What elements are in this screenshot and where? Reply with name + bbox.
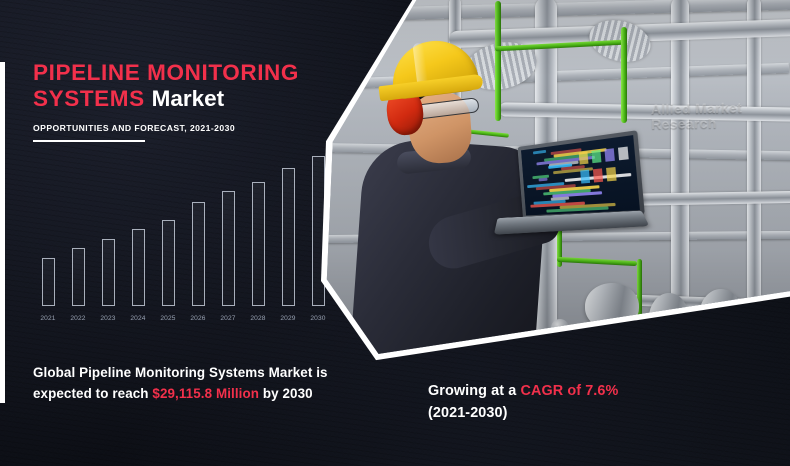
chart-bar-column — [63, 150, 93, 306]
chart-bar-label: 2026 — [183, 308, 213, 330]
chart-bar — [72, 248, 85, 306]
scada-indicator-block — [606, 167, 617, 181]
laptop — [489, 139, 649, 249]
chart-bar — [192, 202, 205, 306]
laptop-keyboard-base — [494, 211, 650, 235]
chart-bar-column — [183, 150, 213, 306]
scada-indicator-block — [578, 151, 588, 165]
scada-indicator-block — [604, 148, 615, 162]
chart-bar — [282, 168, 295, 306]
chart-bar-column — [213, 150, 243, 306]
statement-value-highlight: $29,115.8 Million — [152, 386, 259, 401]
statement-part-2: by 2030 — [259, 386, 313, 401]
chart-bar-label: 2021 — [33, 308, 63, 330]
market-value-statement: Global Pipeline Monitoring Systems Marke… — [33, 362, 378, 404]
chart-bars-group — [33, 150, 333, 306]
chart-bar — [162, 220, 175, 306]
scada-indicator-block — [618, 146, 629, 160]
page-title-line-2: SYSTEMS Market — [33, 86, 333, 112]
chart-bar — [222, 191, 235, 306]
page-title-line-1: PIPELINE MONITORING — [33, 60, 333, 86]
left-accent-strip — [0, 62, 5, 403]
valve-3 — [737, 315, 753, 331]
chart-axis-labels: 2021202220232024202520262027202820292030 — [33, 308, 333, 330]
scada-readout-line — [539, 178, 548, 182]
page-title-plain-word: Market — [152, 86, 225, 111]
headline-block: PIPELINE MONITORING SYSTEMS Market OPPOR… — [33, 60, 333, 142]
chart-bar — [102, 239, 115, 306]
page-title-accent-word: SYSTEMS — [33, 86, 145, 111]
scada-readout-line — [533, 150, 546, 155]
photo-panel: Allied Market Research — [296, 0, 790, 362]
valve-2 — [627, 329, 641, 343]
chart-bar-label: 2023 — [93, 308, 123, 330]
chart-bar — [132, 229, 145, 306]
cagr-years: (2021-2030) — [428, 405, 508, 421]
scada-indicator-block — [593, 168, 604, 182]
chart-bar-column — [93, 150, 123, 306]
chart-bar-label: 2025 — [153, 308, 183, 330]
chart-bar-column — [33, 150, 63, 306]
forecast-bar-chart: 2021202220232024202520262027202820292030 — [33, 150, 333, 330]
scada-indicator-block — [580, 170, 590, 184]
infographic-canvas: PIPELINE MONITORING SYSTEMS Market OPPOR… — [0, 0, 790, 466]
chart-bar-label: 2024 — [123, 308, 153, 330]
chart-bar-column — [243, 150, 273, 306]
scada-display — [521, 135, 640, 215]
chart-bar — [42, 258, 55, 306]
cagr-statement: Growing at a CAGR of 7.6% (2021-2030) — [428, 380, 738, 424]
chart-bar-column — [123, 150, 153, 306]
laptop-screen — [517, 130, 644, 219]
chart-bar-label: 2027 — [213, 308, 243, 330]
page-subtitle: OPPORTUNITIES AND FORECAST, 2021-2030 — [33, 123, 333, 133]
chart-bar-label: 2022 — [63, 308, 93, 330]
cagr-highlight: CAGR of 7.6% — [520, 383, 618, 399]
title-divider-rule — [33, 140, 145, 142]
chart-bar-label: 2028 — [243, 308, 273, 330]
scada-indicator-block — [591, 150, 602, 164]
chart-bar-column — [153, 150, 183, 306]
cagr-prefix: Growing at a — [428, 383, 520, 399]
chart-bar — [252, 182, 265, 306]
